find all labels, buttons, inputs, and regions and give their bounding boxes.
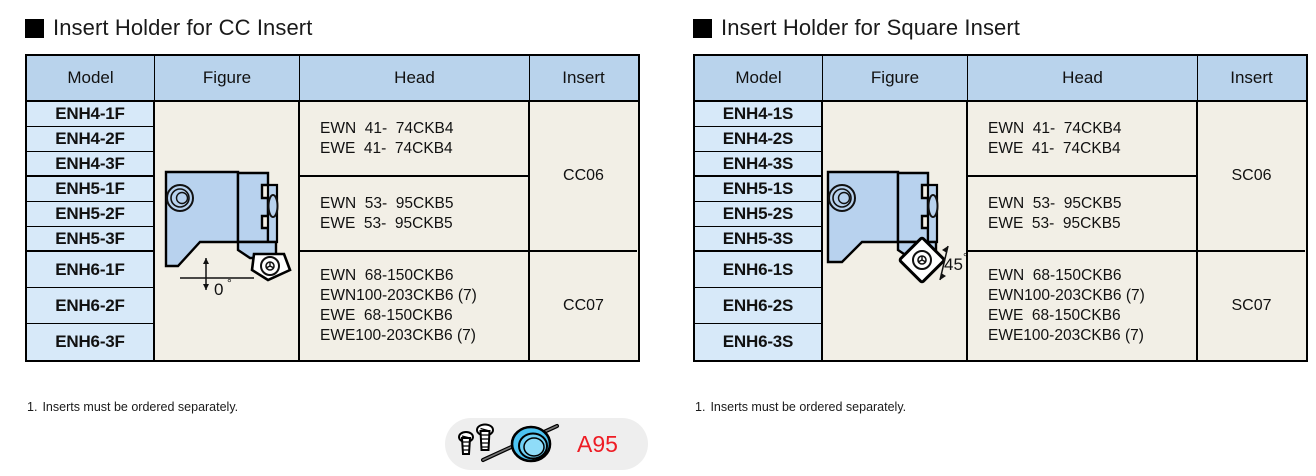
figure-wrapper: 0 ° [155, 102, 300, 360]
model-cell: ENH6-1F [27, 252, 153, 288]
column-header-model: Model [27, 56, 155, 100]
model-column: ENH4-1F ENH4-2F ENH4-3F ENH5-1F ENH5-2F … [27, 102, 155, 360]
square-bullet-icon [693, 19, 712, 38]
model-cell: ENH5-2S [695, 202, 821, 227]
head-group-cell: EWN 41- 74CKB4 EWE 41- 74CKB4 [300, 102, 528, 177]
table-square-insert: Model Figure Head Insert ENH4-1S ENH4-2S… [693, 54, 1308, 362]
model-cell: ENH4-1F [27, 102, 153, 127]
head-column: EWN 41- 74CKB4 EWE 41- 74CKB4 EWN 53- 95… [300, 102, 530, 360]
insert-cell: SC07 [1198, 252, 1305, 360]
footnote-cc: 1.Inserts must be ordered separately. [27, 400, 238, 414]
table-cc-insert: Model Figure Head Insert ENH4-1F ENH4-2F… [25, 54, 640, 362]
figure-cell: 45 ° [823, 102, 968, 360]
catalog-page: Insert Holder for CC Insert Model Figure… [0, 0, 1316, 476]
model-cell: ENH4-1S [695, 102, 821, 127]
insert-column: CC06 CC07 [530, 102, 637, 360]
insert-column: SC06 SC07 [1198, 102, 1305, 360]
angle-label: 45 [944, 255, 963, 274]
tool-holder-diagram-0deg: 0 ° [158, 154, 298, 304]
model-cell: ENH5-1S [695, 177, 821, 202]
head-group-cell: EWN 68-150CKB6 EWN100-203CKB6 (7) EWE 68… [300, 252, 528, 360]
head-group-cell: EWN 53- 95CKB5 EWE 53- 95CKB5 [968, 177, 1196, 252]
model-cell: ENH5-3F [27, 227, 153, 252]
table-body: ENH4-1S ENH4-2S ENH4-3S ENH5-1S ENH5-2S … [695, 102, 1306, 360]
insert-cell: CC06 [530, 102, 637, 252]
insert-cell: SC06 [1198, 102, 1305, 252]
model-cell: ENH5-2F [27, 202, 153, 227]
model-cell: ENH6-1S [695, 252, 821, 288]
column-header-model: Model [695, 56, 823, 100]
column-header-insert: Insert [530, 56, 637, 100]
column-header-head: Head [968, 56, 1198, 100]
figure-cell: 0 ° [155, 102, 300, 360]
table-body: ENH4-1F ENH4-2F ENH4-3F ENH5-1F ENH5-2F … [27, 102, 638, 360]
model-cell: ENH4-3S [695, 152, 821, 177]
section-title: Insert Holder for Square Insert [721, 17, 1020, 39]
head-group-cell: EWN 68-150CKB6 EWN100-203CKB6 (7) EWE 68… [968, 252, 1196, 360]
section-heading-cc: Insert Holder for CC Insert [25, 14, 312, 42]
accessory-tools-icon [445, 418, 577, 470]
footnote-number: 1. [695, 400, 705, 414]
degree-symbol: ° [227, 276, 232, 290]
footnote-text: Inserts must be ordered separately. [710, 400, 906, 414]
accessory-badge-cc: A95 [445, 418, 648, 470]
angle-label: 0 [214, 280, 223, 299]
footnote-number: 1. [27, 400, 37, 414]
column-header-figure: Figure [823, 56, 968, 100]
model-cell: ENH6-3F [27, 324, 153, 360]
model-cell: ENH6-2S [695, 288, 821, 324]
model-cell: ENH4-3F [27, 152, 153, 177]
model-cell: ENH4-2F [27, 127, 153, 152]
model-column: ENH4-1S ENH4-2S ENH4-3S ENH5-1S ENH5-2S … [695, 102, 823, 360]
column-header-figure: Figure [155, 56, 300, 100]
tool-holder-diagram-45deg: 45 ° [826, 154, 966, 304]
footnote-text: Inserts must be ordered separately. [42, 400, 238, 414]
panel-square-insert: Insert Holder for Square Insert Model Fi… [668, 0, 1316, 476]
section-title: Insert Holder for CC Insert [53, 17, 312, 39]
model-cell: ENH6-3S [695, 324, 821, 360]
head-column: EWN 41- 74CKB4 EWE 41- 74CKB4 EWN 53- 95… [968, 102, 1198, 360]
table-header-row: Model Figure Head Insert [695, 56, 1306, 102]
column-header-insert: Insert [1198, 56, 1305, 100]
head-group-cell: EWN 41- 74CKB4 EWE 41- 74CKB4 [968, 102, 1196, 177]
degree-symbol: ° [963, 250, 966, 264]
model-cell: ENH6-2F [27, 288, 153, 324]
accessory-code: A95 [577, 433, 618, 456]
footnote-square: 1.Inserts must be ordered separately. [695, 400, 906, 414]
model-cell: ENH5-3S [695, 227, 821, 252]
model-cell: ENH5-1F [27, 177, 153, 202]
insert-cell: CC07 [530, 252, 637, 360]
panel-cc-insert: Insert Holder for CC Insert Model Figure… [0, 0, 648, 476]
column-header-head: Head [300, 56, 530, 100]
figure-wrapper: 45 ° [823, 102, 968, 360]
square-bullet-icon [25, 19, 44, 38]
table-header-row: Model Figure Head Insert [27, 56, 638, 102]
section-heading-square: Insert Holder for Square Insert [693, 14, 1020, 42]
head-group-cell: EWN 53- 95CKB5 EWE 53- 95CKB5 [300, 177, 528, 252]
model-cell: ENH4-2S [695, 127, 821, 152]
